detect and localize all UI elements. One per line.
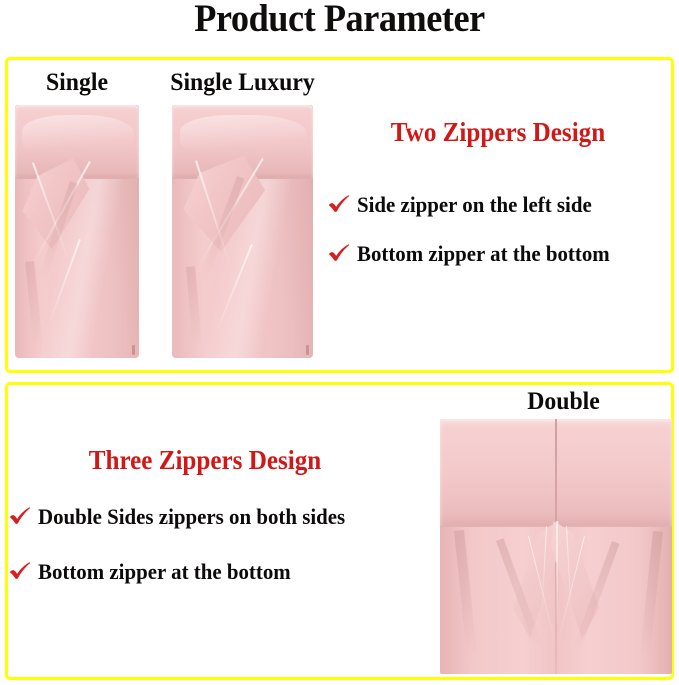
product-label-double: Double [471,389,656,415]
feature-bottom-zipper-top: Bottom zipper at the bottom [327,242,623,266]
checkmark-icon [327,242,351,264]
bed-crease [556,521,558,623]
checkmark-icon [327,193,351,215]
product-parameter-infographic: Product Parameter Single Single Luxury T… [0,0,679,685]
feature-bottom-zipper-bottom: Bottom zipper at the bottom [8,560,304,584]
product-image-single-luxury [172,105,313,358]
liner-zipper-pull [306,345,309,355]
feature-side-zipper: Side zipper on the left side [327,193,604,217]
heading-two-zippers-design: Two Zippers Design [345,117,652,147]
product-label-single-luxury: Single Luxury [155,70,331,96]
heading-three-zippers-design: Three Zippers Design [38,445,373,475]
product-label-single: Single [4,70,150,96]
page-title: Product Parameter [24,0,655,39]
feature-text: Side zipper on the left side [357,193,592,217]
liner-zipper-pull [132,345,135,355]
product-image-single [15,105,139,358]
feature-text: Bottom zipper at the bottom [357,242,610,266]
checkmark-icon [8,560,32,582]
checkmark-icon [8,505,32,527]
feature-text: Double Sides zippers on both sides [38,505,345,529]
feature-double-sides-zippers: Double Sides zippers on both sides [8,505,361,529]
feature-text: Bottom zipper at the bottom [38,560,291,584]
product-image-double [440,419,672,674]
